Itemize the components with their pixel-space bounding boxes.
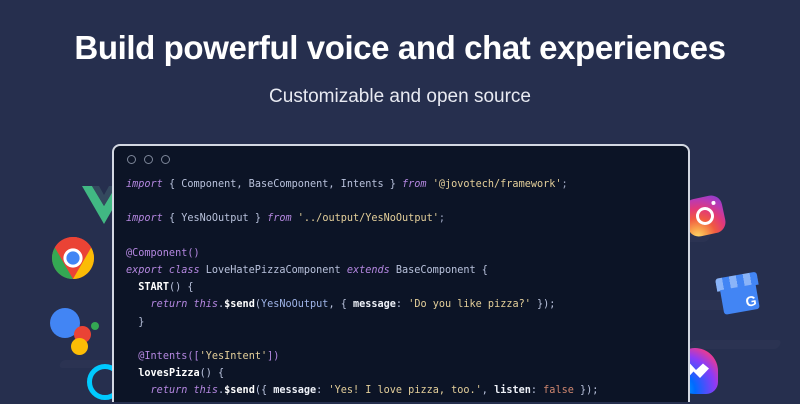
code-line: export class LoveHatePizzaComponent exte…	[126, 262, 688, 279]
code-token: import	[126, 213, 163, 224]
code-token: $send	[224, 299, 255, 310]
code-token: return this	[151, 385, 218, 396]
code-line: @Component()	[126, 245, 688, 262]
code-token: BaseComponent {	[390, 265, 488, 276]
code-line: import { Component, BaseComponent, Inten…	[126, 176, 688, 193]
code-token: });	[574, 385, 599, 396]
code-token: 'Yes! I love pizza, too.'	[328, 385, 481, 396]
code-line	[126, 331, 688, 348]
google-assistant-icon	[50, 302, 106, 352]
code-line: lovesPizza() {	[126, 365, 688, 382]
code-token: { Component, BaseComponent, Intents }	[163, 179, 402, 190]
code-token: listen	[494, 385, 531, 396]
code-token: ])	[267, 351, 279, 362]
code-token: ;	[439, 213, 445, 224]
code-token: from	[267, 213, 292, 224]
code-token: }	[126, 317, 144, 328]
code-token	[126, 282, 138, 293]
code-token: $send	[224, 385, 255, 396]
google-my-business-icon: G	[715, 272, 763, 317]
code-token: '../output/YesNoOutput'	[298, 213, 439, 224]
code-token	[126, 385, 151, 396]
code-token: LoveHatePizzaComponent	[200, 265, 347, 276]
instagram-flash-dot	[711, 201, 716, 206]
code-line: START() {	[126, 279, 688, 296]
code-token: message	[353, 299, 396, 310]
code-token: { YesNoOutput }	[163, 213, 267, 224]
code-token: :	[396, 299, 408, 310]
code-line: return this.$send(YesNoOutput, { message…	[126, 296, 688, 313]
minimize-dot-icon[interactable]	[144, 155, 153, 164]
code-line: import { YesNoOutput } from '../output/Y…	[126, 210, 688, 227]
code-token: ;	[562, 179, 568, 190]
code-token: YesNoOutput	[261, 299, 328, 310]
code-token: @Intents([	[138, 351, 199, 362]
code-token: });	[531, 299, 556, 310]
code-token	[126, 351, 138, 362]
code-token: 'Do you like pizza?'	[408, 299, 531, 310]
code-token: ({	[255, 385, 273, 396]
assistant-yellow-dot	[71, 338, 88, 355]
instagram-lens	[694, 205, 715, 226]
code-token: extends	[347, 265, 390, 276]
code-line: return this.$send({ message: 'Yes! I lov…	[126, 382, 688, 399]
code-token: :	[531, 385, 543, 396]
code-line	[126, 193, 688, 210]
chrome-icon	[52, 237, 94, 279]
code-token: false	[543, 385, 574, 396]
code-token: START	[138, 282, 169, 293]
code-token: export class	[126, 265, 200, 276]
code-token	[126, 299, 151, 310]
maximize-dot-icon[interactable]	[161, 155, 170, 164]
code-token: '@jovotech/framework'	[433, 179, 562, 190]
code-token: import	[126, 179, 163, 190]
code-token: return this	[151, 299, 218, 310]
code-line: @Intents(['YesIntent'])	[126, 348, 688, 365]
editor-title-bar	[114, 146, 688, 172]
code-token: () {	[200, 368, 225, 379]
code-token	[126, 368, 138, 379]
code-token: :	[316, 385, 328, 396]
code-token: ,	[482, 385, 494, 396]
code-token: message	[273, 385, 316, 396]
code-editor-window[interactable]: import { Component, BaseComponent, Inten…	[112, 144, 690, 402]
code-token: () {	[169, 282, 194, 293]
code-token: 'YesIntent'	[200, 351, 267, 362]
code-token: from	[402, 179, 427, 190]
close-dot-icon[interactable]	[127, 155, 136, 164]
code-token: lovesPizza	[138, 368, 199, 379]
code-line	[126, 228, 688, 245]
assistant-green-dot	[91, 322, 99, 330]
code-token: , {	[328, 299, 353, 310]
code-line: }	[126, 314, 688, 331]
code-content[interactable]: import { Component, BaseComponent, Inten…	[114, 172, 688, 402]
code-token: @Component()	[126, 248, 200, 259]
